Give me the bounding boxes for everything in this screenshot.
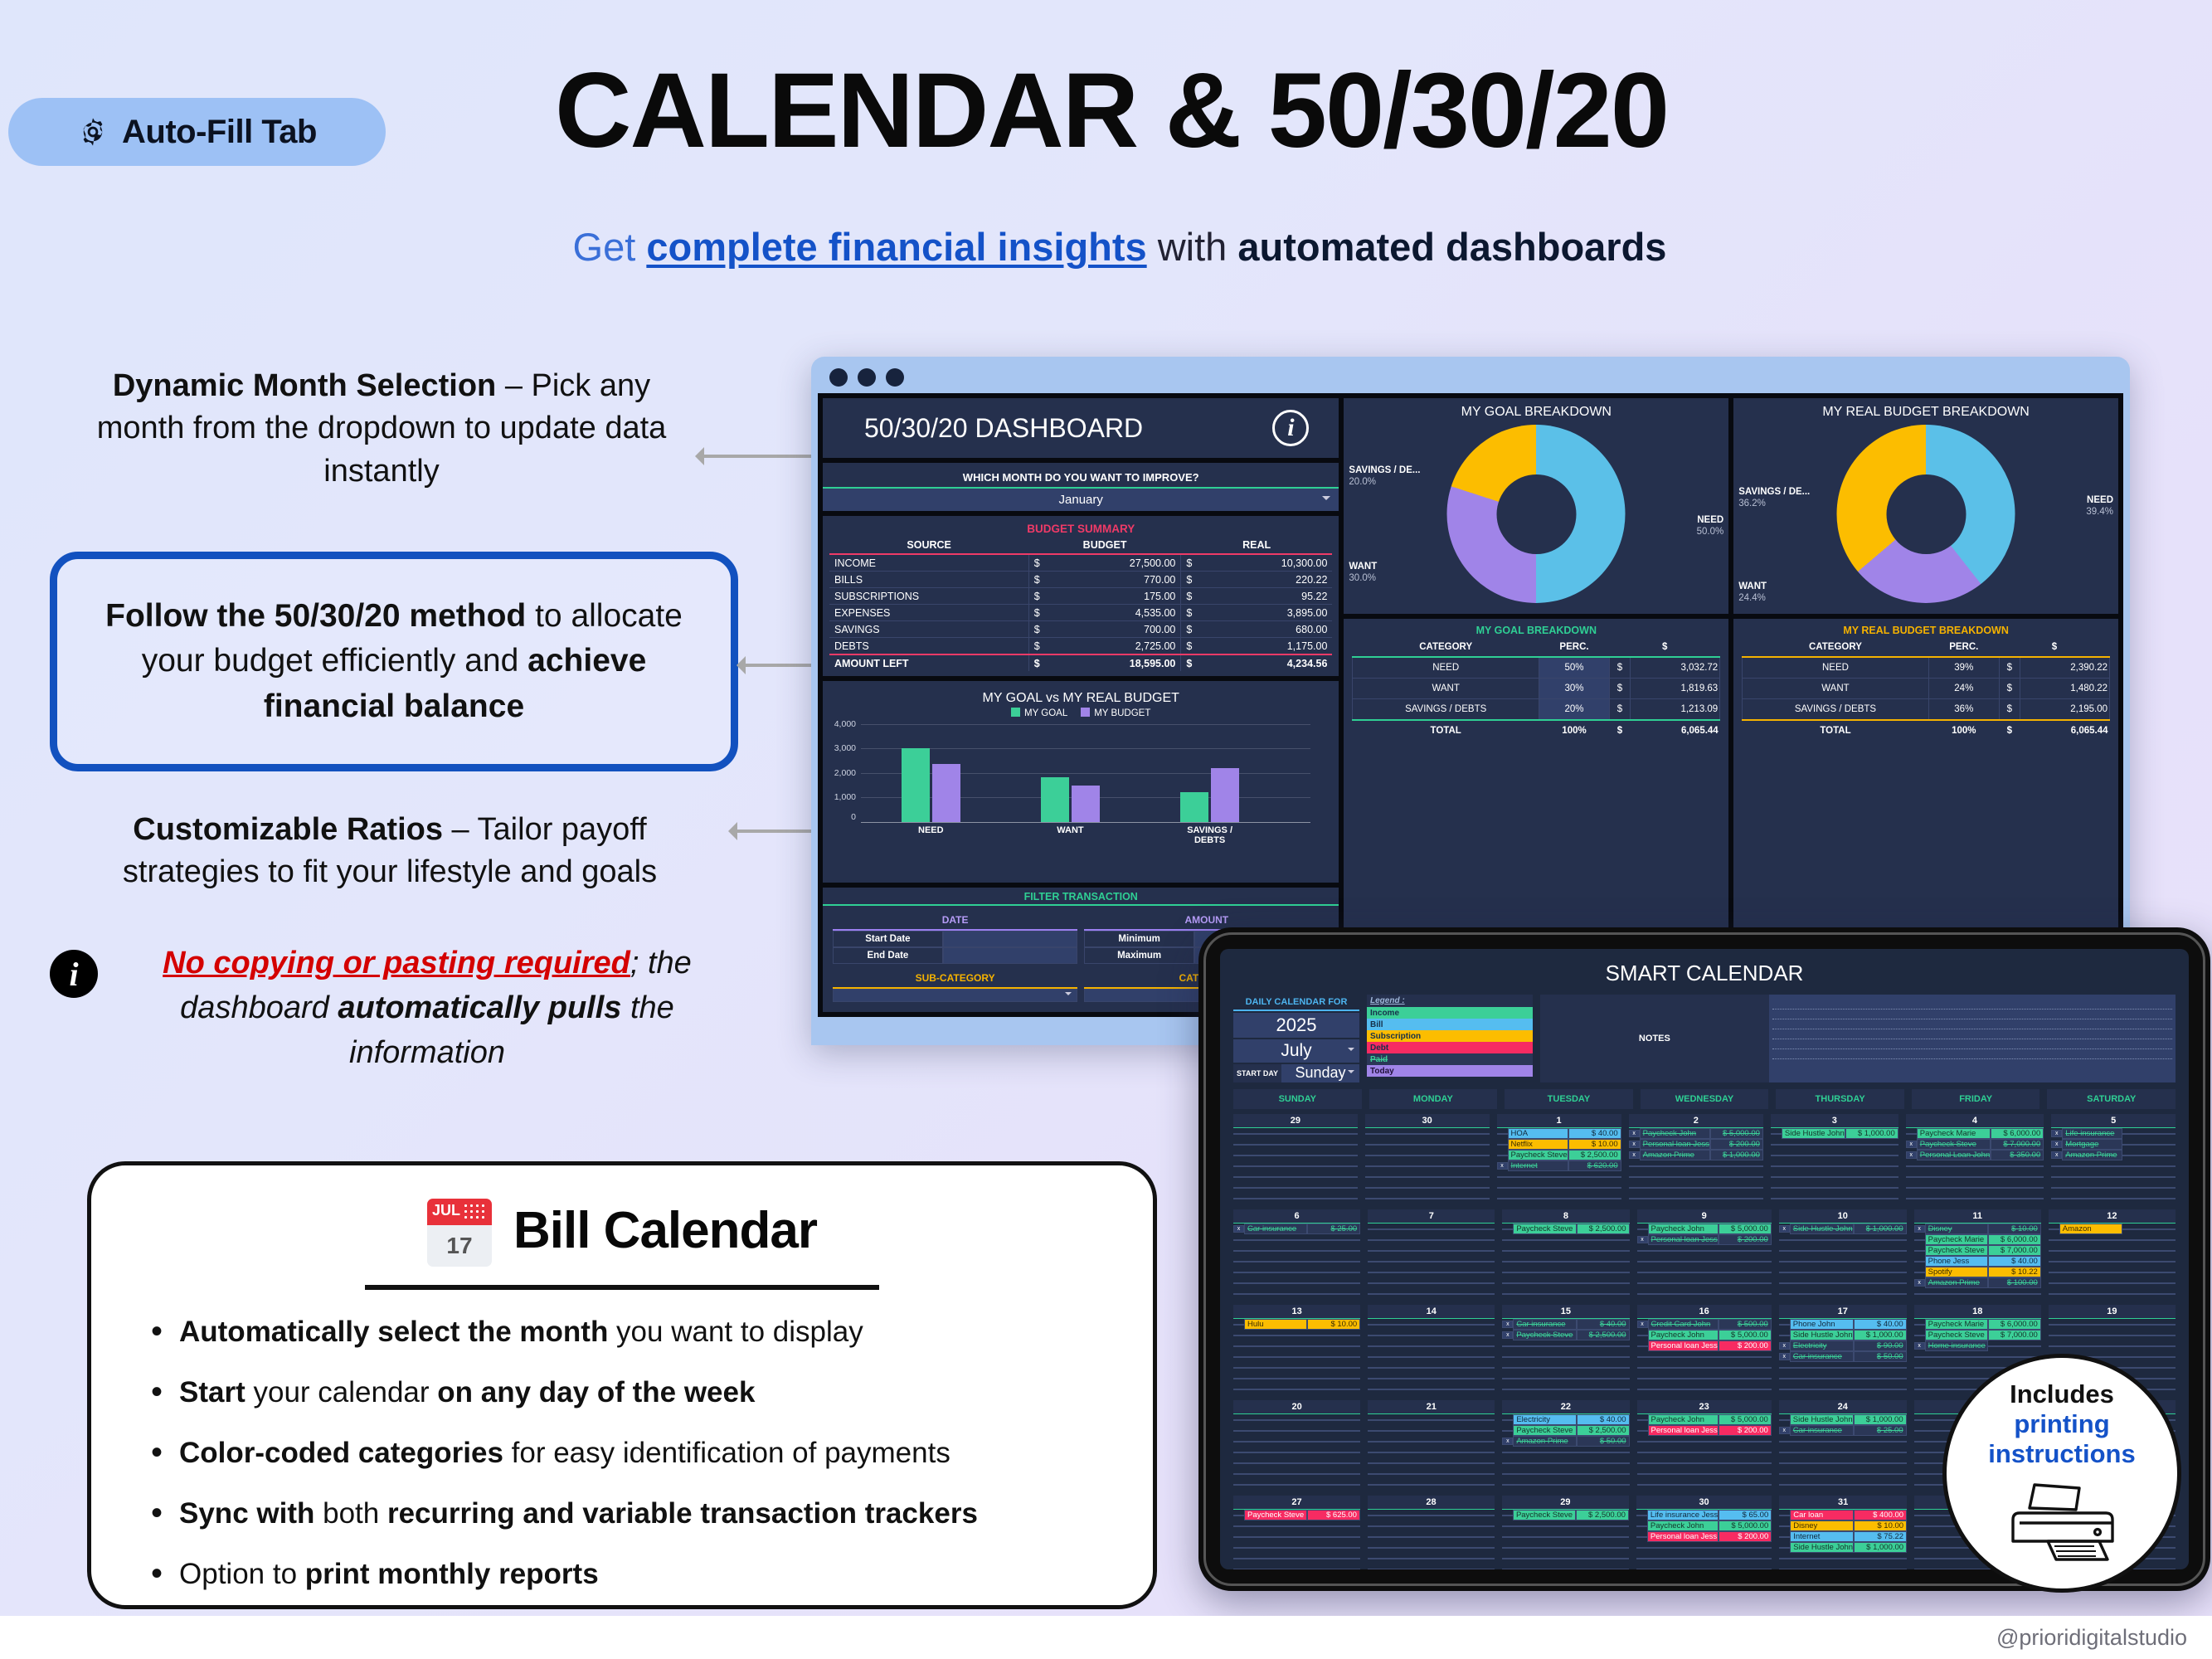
calendar-entry	[1368, 1425, 1495, 1436]
calendar-entry	[1637, 1373, 1772, 1384]
legend-item-goal: MY GOAL	[1011, 708, 1067, 718]
calendar-entry	[1502, 1288, 1629, 1299]
total-budget: 18,595.00	[1062, 654, 1181, 671]
calendar-entry	[1779, 1288, 1907, 1299]
month-selector-value[interactable]: January	[823, 489, 1339, 511]
calendar-day-cell[interactable]: 9Paycheck John$ 5,000.00xPersonal loan J…	[1637, 1209, 1772, 1299]
calendar-entry: xSide Hustle John$ 1,000.00	[1779, 1224, 1907, 1234]
calendar-entry	[1233, 1150, 1358, 1160]
calendar-entry: Netflix$ 10.00	[1497, 1139, 1621, 1150]
calendar-entry	[1771, 1182, 1898, 1193]
calendar-entry: xAmazon Prime$ 50.00	[1502, 1436, 1629, 1447]
goal-donut-label-savings: SAVINGS / DE...20.0%	[1349, 465, 1420, 489]
calendar-entry	[1914, 1288, 2041, 1299]
goal-donut-chart	[1447, 425, 1626, 603]
subtitle-part-1: Get	[573, 225, 647, 269]
calendar-day-cell[interactable]: 4Paycheck Marie$ 6,000.00xPaycheck Steve…	[1906, 1114, 2044, 1204]
calendar-entry: xDisney$ 10.00	[1914, 1224, 2041, 1234]
calendar-entry	[1629, 1160, 1763, 1171]
calendar-day-cell[interactable]: 21	[1368, 1400, 1495, 1490]
filter-min-label: Minimum	[1084, 931, 1194, 947]
calendar-entry	[1502, 1553, 1629, 1564]
calendar-entry	[1779, 1256, 1907, 1267]
calendar-day-cell[interactable]: 11xDisney$ 10.00Paycheck Marie$ 6,000.00…	[1914, 1209, 2041, 1299]
calendar-entry	[1233, 1553, 1360, 1564]
calendar-entry	[1233, 1128, 1358, 1139]
calendar-entry: xCar insurance$ 25.00	[1233, 1224, 1360, 1234]
budget-summary-panel: BUDGET SUMMARY SOURCE BUDGET REAL INCOME…	[823, 516, 1339, 676]
calendar-entry: xAmazon Prime$ 1,000.00	[1629, 1150, 1763, 1160]
calendar-entry	[1779, 1245, 1907, 1256]
list-item-text: your calendar	[246, 1376, 438, 1408]
calendar-entry	[2049, 1245, 2176, 1256]
calendar-entry	[1771, 1139, 1898, 1150]
calendar-entry: Spotify$ 10.22	[1914, 1267, 2041, 1277]
calendar-day-cell[interactable]: 12Amazon	[2049, 1209, 2176, 1299]
bar	[1072, 786, 1100, 822]
list-item: Option to print monthly reports	[151, 1557, 1115, 1592]
calendar-entry: Paycheck Marie$ 6,000.00	[1914, 1319, 2041, 1330]
calendar-entry	[1637, 1256, 1772, 1267]
filter-subcategory-select[interactable]	[833, 989, 1077, 1002]
calendar-icon: JUL 17	[427, 1194, 492, 1267]
calendar-entry	[1637, 1267, 1772, 1277]
page-title: CALENDAR & 50/30/20	[431, 58, 1791, 164]
calendar-day-cell[interactable]: 28	[1368, 1496, 1495, 1569]
calendar-entry: xInternet$ 620.00	[1497, 1160, 1621, 1171]
goal-breakdown-table-panel: MY GOAL BREAKDOWN CATEGORY PERC. $ NEED5…	[1344, 619, 1728, 956]
calendar-day-cell[interactable]: 20	[1233, 1400, 1360, 1490]
list-item-bold: Color-coded categories	[179, 1437, 503, 1469]
calendar-entry	[1502, 1267, 1629, 1277]
calendar-entry: xMortgage	[2051, 1139, 2176, 1150]
calendar-entry	[1233, 1234, 1360, 1245]
calendar-entry	[1368, 1457, 1495, 1468]
bill-calendar-feature-list: Automatically select the month you want …	[129, 1315, 1115, 1592]
bill-calendar-title: Bill Calendar	[513, 1201, 817, 1260]
calendar-entry	[1368, 1564, 1495, 1569]
calendar-entry	[1779, 1234, 1907, 1245]
calendar-entry: Side Hustle John$ 1,000.00	[1779, 1414, 1907, 1425]
list-item-text: for easy identification of payments	[503, 1437, 950, 1469]
calendar-day-cell[interactable]: 31Car loan$ 400.00Disney$ 10.00Internet$…	[1779, 1496, 1907, 1569]
bar-group: NEED	[902, 748, 960, 822]
calendar-entry	[2049, 1288, 2176, 1299]
table-row: WANT30%$1,819.63	[1353, 679, 1720, 699]
day-header: MONDAY	[1369, 1089, 1498, 1109]
calendar-legend: Legend : IncomeBillSubscriptionDebtPaidT…	[1367, 995, 1533, 1082]
filter-title: FILTER TRANSACTION	[823, 888, 1339, 906]
chevron-down-icon	[1348, 1048, 1354, 1054]
calendar-entry	[1906, 1171, 2044, 1182]
calendar-day-cell[interactable]: 30	[1365, 1114, 1490, 1204]
list-item-bold: on any day of the week	[437, 1376, 755, 1408]
calendar-entry	[1368, 1436, 1495, 1447]
list-item-text: Option to	[179, 1558, 305, 1590]
info-icon[interactable]: i	[1272, 410, 1309, 446]
table-header-row: CATEGORY PERC. $	[1353, 638, 1720, 657]
divider	[365, 1285, 879, 1290]
callout-no-copy-text: No copying or pasting required; the dash…	[116, 941, 738, 1076]
calendar-entry	[1365, 1128, 1490, 1139]
calendar-entry	[2049, 1234, 2176, 1245]
calendar-entry	[1502, 1351, 1629, 1362]
calendar-day-cell[interactable]: 3Side Hustle John$ 1,000.00	[1771, 1114, 1898, 1204]
daily-calendar-selector: DAILY CALENDAR FOR 2025 July START DAY S…	[1233, 995, 1359, 1082]
calendar-entry	[1771, 1193, 1898, 1204]
calendar-entry	[1233, 1193, 1358, 1204]
calendar-entry: xCar insurance$ 25.00	[1779, 1425, 1907, 1436]
daily-calendar-label: DAILY CALENDAR FOR	[1233, 995, 1359, 1011]
bar-group: WANT	[1041, 777, 1100, 822]
calendar-entry	[1502, 1245, 1629, 1256]
column-header-budget: BUDGET	[1028, 537, 1181, 554]
calendar-entry: Side Hustle John$ 1,000.00	[1771, 1128, 1898, 1139]
calendar-entry	[1233, 1436, 1360, 1447]
table-total-row: AMOUNT LEFT $18,595.00 $4,234.56	[829, 654, 1332, 671]
calendar-entry	[1502, 1384, 1629, 1394]
table-total-row: TOTAL 100% $ 6,065.44	[1353, 720, 1720, 741]
dashboard-screen: 50/30/20 DASHBOARD i WHICH MONTH DO YOU …	[818, 393, 2123, 1017]
bar	[932, 764, 960, 823]
calendar-entry	[1497, 1171, 1621, 1182]
window-maximize-button[interactable]	[886, 368, 904, 387]
calendar-entry	[1771, 1171, 1898, 1182]
calendar-entry: Electricity$ 40.00	[1502, 1414, 1629, 1425]
calendar-entry	[1771, 1150, 1898, 1160]
calendar-entry	[1502, 1542, 1629, 1553]
day-header: THURSDAY	[1776, 1089, 1904, 1109]
calendar-entry	[1233, 1468, 1360, 1479]
filter-start-date-label: Start Date	[833, 931, 943, 947]
notes-lines[interactable]	[1769, 995, 2176, 1082]
callout-method-box: Follow the 50/30/20 method to allocate y…	[50, 552, 738, 771]
calendar-entry: Paycheck John$ 5,000.00	[1637, 1414, 1772, 1425]
calendar-day-cell[interactable]: 1HOA$ 40.00Netflix$ 10.00Paycheck Steve$…	[1497, 1114, 1621, 1204]
calendar-controls: DAILY CALENDAR FOR 2025 July START DAY S…	[1220, 995, 2189, 1089]
calendar-entry	[1497, 1182, 1621, 1193]
calendar-entry	[1637, 1245, 1772, 1256]
filter-end-date-input[interactable]	[943, 947, 1077, 964]
calendar-entry: Hulu$ 10.00	[1233, 1319, 1360, 1330]
calendar-entry	[2051, 1193, 2176, 1204]
window-close-button[interactable]	[829, 368, 848, 387]
calendar-entry	[1368, 1510, 1495, 1520]
calendar-entry	[1368, 1362, 1495, 1373]
calendar-entry	[1233, 1245, 1360, 1256]
calendar-week-row: 6xCar insurance$ 25.0078Paycheck Steve$ …	[1233, 1209, 2176, 1299]
calendar-entry: Paycheck Steve$ 7,000.00	[1914, 1330, 2041, 1340]
month-selector[interactable]: WHICH MONTH DO YOU WANT TO IMPROVE? Janu…	[823, 463, 1339, 511]
day-header: SATURDAY	[2047, 1089, 2176, 1109]
calendar-entry	[1637, 1384, 1772, 1394]
goal-donut-label-need: NEED50.0%	[1697, 514, 1724, 538]
calendar-entry: xCar insurance$ 40.00	[1502, 1319, 1629, 1330]
bar-group: SAVINGS / DEBTS	[1180, 768, 1239, 822]
calendar-entry: xPaycheck Steve$ 7,000.00	[1906, 1139, 2044, 1150]
calendar-entry	[1779, 1373, 1907, 1384]
calendar-entry	[1368, 1267, 1495, 1277]
filter-date-header: DATE	[833, 911, 1077, 931]
calendar-entry: Paycheck Marie$ 6,000.00	[1906, 1128, 2044, 1139]
calendar-entry	[1779, 1447, 1907, 1457]
real-donut-panel: MY REAL BUDGET BREAKDOWN SAVINGS / DE...…	[1733, 398, 2118, 614]
goal-donut-label-want: WANT30.0%	[1349, 561, 1377, 585]
calendar-entry	[2049, 1319, 2176, 1330]
callout-method-bold-1: Follow the 50/30/20 method	[105, 598, 526, 634]
table-row: EXPENSES$4,535.00$3,895.00	[829, 605, 1332, 621]
calendar-entry	[1502, 1234, 1629, 1245]
real-table-title: MY REAL BUDGET BREAKDOWN	[1742, 621, 2110, 638]
calendar-entry	[1233, 1277, 1360, 1288]
calendar-entry: Phone John$ 40.00	[1779, 1319, 1907, 1330]
year-value[interactable]: 2025	[1233, 1013, 1359, 1038]
callout-month-selection-bold: Dynamic Month Selection	[113, 368, 496, 403]
calendar-entry	[1368, 1245, 1495, 1256]
calendar-day-cell[interactable]: 29	[1233, 1114, 1358, 1204]
legend-item: Subscription	[1367, 1030, 1533, 1042]
chevron-down-icon	[1348, 1070, 1354, 1077]
calendar-entry	[1233, 1330, 1360, 1340]
calendar-day-cell[interactable]: 24Side Hustle John$ 1,000.00xCar insuran…	[1779, 1400, 1907, 1490]
column-header-source: SOURCE	[829, 537, 1028, 554]
calendar-day-cell[interactable]: 2xPaycheck John$ 5,000.00xPersonal loan …	[1629, 1114, 1763, 1204]
calendar-entry	[1368, 1319, 1495, 1330]
calendar-entry	[1368, 1531, 1495, 1542]
calendar-entry	[2049, 1267, 2176, 1277]
calendar-entry	[1233, 1425, 1360, 1436]
calendar-entry	[1779, 1553, 1907, 1564]
chevron-down-icon	[1322, 496, 1330, 504]
legend-item: Debt	[1367, 1042, 1533, 1053]
calendar-entry	[1368, 1468, 1495, 1479]
calendar-day-cell[interactable]: 5xLife insurancexMortgagexAmazon Prime	[2051, 1114, 2176, 1204]
month-selector-label: January	[1059, 493, 1103, 507]
calendar-entry: xElectricity$ 90.00	[1779, 1340, 1907, 1351]
calendar-entry	[1365, 1171, 1490, 1182]
calendar-day-cell[interactable]: 16xCredit Card John$ 500.00Paycheck John…	[1637, 1305, 1772, 1394]
calendar-entry	[2049, 1340, 2176, 1351]
callout-ratios-bold: Customizable Ratios	[133, 812, 443, 847]
bar	[1211, 768, 1239, 822]
calendar-entry	[2051, 1171, 2176, 1182]
calendar-entry	[1233, 1160, 1358, 1171]
calendar-entry: Paycheck John$ 5,000.00	[1637, 1224, 1772, 1234]
auto-fill-tab-badge: Auto-Fill Tab	[8, 98, 386, 166]
calendar-entry	[1233, 1256, 1360, 1267]
calendar-entry: HOA$ 40.00	[1497, 1128, 1621, 1139]
legend-item: Income	[1367, 1007, 1533, 1019]
calendar-entry	[1779, 1436, 1907, 1447]
calendar-entry	[2049, 1277, 2176, 1288]
list-item-bold: Automatically select the month	[179, 1316, 608, 1348]
auto-fill-tab-label: Auto-Fill Tab	[122, 114, 317, 151]
calendar-entry	[1502, 1520, 1629, 1531]
calendar-entry	[1368, 1520, 1495, 1531]
day-header: FRIDAY	[1912, 1089, 2040, 1109]
list-item-bold: print monthly reports	[305, 1558, 599, 1590]
calendar-entry	[1502, 1564, 1629, 1569]
calendar-entry	[1629, 1182, 1763, 1193]
info-icon: i	[50, 950, 98, 998]
list-item-bold: recurring and variable transaction track…	[387, 1497, 978, 1530]
calendar-entry	[1368, 1384, 1495, 1394]
calendar-entry	[1502, 1340, 1629, 1351]
calendar-week-row: 29301HOA$ 40.00Netflix$ 10.00Paycheck St…	[1233, 1114, 2176, 1204]
calendar-entry: xAmazon Prime$ 100.00	[1914, 1277, 2041, 1288]
badge-line-2: printing	[2014, 1409, 2109, 1439]
calendar-entry	[1502, 1256, 1629, 1267]
list-item: Start your calendar on any day of the we…	[151, 1375, 1115, 1410]
calendar-entry: Life insurance Jess$ 65.00	[1636, 1510, 1772, 1520]
calendar-day-cell[interactable]: 17Phone John$ 40.00Side Hustle John$ 1,0…	[1779, 1305, 1907, 1394]
calendar-day-cell[interactable]: 14	[1368, 1305, 1495, 1394]
filter-subcategory-header: SUB-CATEGORY	[833, 969, 1077, 989]
legend-title: Legend :	[1367, 995, 1533, 1007]
calendar-entry	[1368, 1288, 1495, 1299]
calendar-entry: xLife insurance	[2051, 1128, 2176, 1139]
calendar-entry	[1906, 1182, 2044, 1193]
start-day-label: START DAY	[1233, 1064, 1281, 1082]
dashboard-header: 50/30/20 DASHBOARD i	[823, 398, 1339, 458]
calendar-entry	[1365, 1139, 1490, 1150]
callout-ratios: Customizable Ratios – Tailor payoff stra…	[75, 809, 705, 894]
calendar-entry	[1906, 1193, 2044, 1204]
calendar-entry	[1233, 1542, 1360, 1553]
list-item-bold-pre: Start	[179, 1376, 246, 1408]
calendar-entry: Side Hustle John$ 1,000.00	[1779, 1542, 1907, 1553]
real-donut-label-need: NEED39.4%	[2086, 494, 2113, 518]
subtitle-part-4: automated dashboards	[1237, 225, 1666, 269]
calendar-entry	[1637, 1288, 1772, 1299]
calendar-entry	[1779, 1267, 1907, 1277]
calendar-entry	[1906, 1160, 2044, 1171]
calendar-entry: xHome insurance	[1914, 1340, 2041, 1351]
calendar-entry	[1497, 1193, 1621, 1204]
calendar-entry	[1629, 1171, 1763, 1182]
filter-date-group: DATE Start Date End Date	[833, 911, 1077, 964]
bar	[1041, 777, 1069, 822]
day-header: TUESDAY	[1505, 1089, 1633, 1109]
table-row: NEED39%$2,390.22	[1743, 657, 2110, 679]
calendar-entry	[1233, 1340, 1360, 1351]
real-donut-label-want: WANT24.4%	[1738, 581, 1767, 605]
calendar-entry: Paycheck Steve$ 7,000.00	[1914, 1245, 2041, 1256]
badge-line-3: instructions	[1988, 1439, 2135, 1469]
calendar-day-cell[interactable]: 6xCar insurance$ 25.00	[1233, 1209, 1360, 1299]
calendar-entry	[1502, 1457, 1629, 1468]
calendar-entry	[1368, 1234, 1495, 1245]
calendar-entry	[1502, 1373, 1629, 1384]
calendar-entry	[1368, 1479, 1495, 1490]
calendar-entry	[1368, 1542, 1495, 1553]
calendar-day-cell[interactable]: 23Paycheck John$ 5,000.00Personal loan J…	[1637, 1400, 1772, 1490]
subtitle-part-2: complete financial insights	[646, 225, 1146, 269]
calendar-entry: Car loan$ 400.00	[1779, 1510, 1907, 1520]
calendar-entry	[1233, 1171, 1358, 1182]
goal-donut-panel: MY GOAL BREAKDOWN SAVINGS / DE...20.0% W…	[1344, 398, 1728, 614]
calendar-day-cell[interactable]: 15xCar insurance$ 40.00xPaycheck Steve$ …	[1502, 1305, 1629, 1394]
calendar-entry: xCar insurance$ 50.00	[1779, 1351, 1907, 1362]
footer-handle: @prioridigitalstudio	[1996, 1625, 2187, 1651]
calendar-entry	[1779, 1564, 1907, 1569]
calendar-entry	[1368, 1414, 1495, 1425]
calendar-day-cell[interactable]: 8Paycheck Steve$ 2,500.00	[1502, 1209, 1629, 1299]
calendar-entry	[1368, 1373, 1495, 1384]
goal-donut-title: MY GOAL BREAKDOWN	[1344, 398, 1728, 421]
calendar-entry	[1365, 1150, 1490, 1160]
calendar-entry	[1233, 1267, 1360, 1277]
calendar-entry	[1502, 1479, 1629, 1490]
month-selector-question: WHICH MONTH DO YOU WANT TO IMPROVE?	[823, 468, 1339, 487]
calendar-day-headers: SUNDAYMONDAYTUESDAYWEDNESDAYTHURSDAYFRID…	[1220, 1089, 2189, 1109]
calendar-day-cell[interactable]: 27Paycheck Steve$ 625.00	[1233, 1496, 1360, 1569]
calendar-entry	[1637, 1447, 1772, 1457]
calendar-entry	[1233, 1351, 1360, 1362]
table-row: SAVINGS / DEBTS36%$2,195.00	[1743, 699, 2110, 721]
start-day-select[interactable]: Sunday	[1281, 1064, 1359, 1082]
calendar-entry	[1771, 1160, 1898, 1171]
filter-start-date-input[interactable]	[943, 931, 1077, 947]
printing-instructions-badge: Includes printing instructions	[1942, 1354, 2181, 1593]
real-donut-title: MY REAL BUDGET BREAKDOWN	[1733, 398, 2118, 421]
calendar-day-cell[interactable]: 10xSide Hustle John$ 1,000.00	[1779, 1209, 1907, 1299]
calendar-entry	[1233, 1362, 1360, 1373]
bar	[1180, 792, 1208, 822]
calendar-entry	[2051, 1182, 2176, 1193]
table-row: SAVINGS$700.00$680.00	[829, 621, 1332, 638]
calendar-entry	[1368, 1330, 1495, 1340]
calendar-entry: xAmazon Prime	[2051, 1150, 2176, 1160]
calendar-entry	[1637, 1436, 1772, 1447]
table-row: DEBTS$2,725.00$1,175.00	[829, 638, 1332, 655]
calendar-entry: Paycheck Steve$ 625.00	[1233, 1510, 1360, 1520]
calendar-entry: Amazon	[2049, 1224, 2176, 1234]
list-item-text: you want to display	[608, 1316, 863, 1348]
table-row: WANT24%$1,480.22	[1743, 679, 2110, 699]
filter-subcategory-group: SUB-CATEGORY	[833, 969, 1077, 1002]
calendar-entry: Paycheck John$ 5,000.00	[1637, 1330, 1772, 1340]
real-donut-label-savings: SAVINGS / DE...36.2%	[1738, 486, 1810, 510]
calendar-entry	[1636, 1542, 1772, 1553]
calendar-entry: Personal loan Jess$ 200.00	[1636, 1531, 1772, 1542]
gear-icon	[77, 116, 109, 148]
calendar-entry	[1233, 1520, 1360, 1531]
calendar-day-cell[interactable]: 30Life insurance Jess$ 65.00Paycheck Joh…	[1636, 1496, 1772, 1569]
calendar-entry	[1636, 1553, 1772, 1564]
bar-chart-legend: MY GOAL MY BUDGET	[823, 708, 1339, 718]
calendar-entry: Phone Jess$ 40.00	[1914, 1256, 2041, 1267]
calendar-day-cell[interactable]: 13Hulu$ 10.00	[1233, 1305, 1360, 1394]
calendar-entry	[1233, 1384, 1360, 1394]
real-breakdown-table-panel: MY REAL BUDGET BREAKDOWN CATEGORY PERC. …	[1733, 619, 2118, 956]
calendar-entry: Internet$ 75.22	[1779, 1531, 1907, 1542]
calendar-day-cell[interactable]: 22Electricity$ 40.00Paycheck Steve$ 2,50…	[1502, 1400, 1629, 1490]
window-minimize-button[interactable]	[858, 368, 876, 387]
browser-titlebar	[818, 363, 2123, 392]
calendar-entry	[1637, 1351, 1772, 1362]
calendar-entry	[2049, 1330, 2176, 1340]
calendar-entry	[1779, 1362, 1907, 1373]
calendar-day-cell[interactable]: 7	[1368, 1209, 1495, 1299]
list-item: Sync with both recurring and variable tr…	[151, 1496, 1115, 1531]
badge-line-1: Includes	[2010, 1379, 2114, 1409]
calendar-entry: xPersonal Loan John$ 350.00	[1906, 1150, 2044, 1160]
calendar-entry	[1637, 1277, 1772, 1288]
notes-box: NOTES	[1540, 995, 2176, 1082]
month-select[interactable]: July	[1233, 1039, 1359, 1063]
calendar-day-cell[interactable]: 29Paycheck Steve$ 2,500.00	[1502, 1496, 1629, 1569]
